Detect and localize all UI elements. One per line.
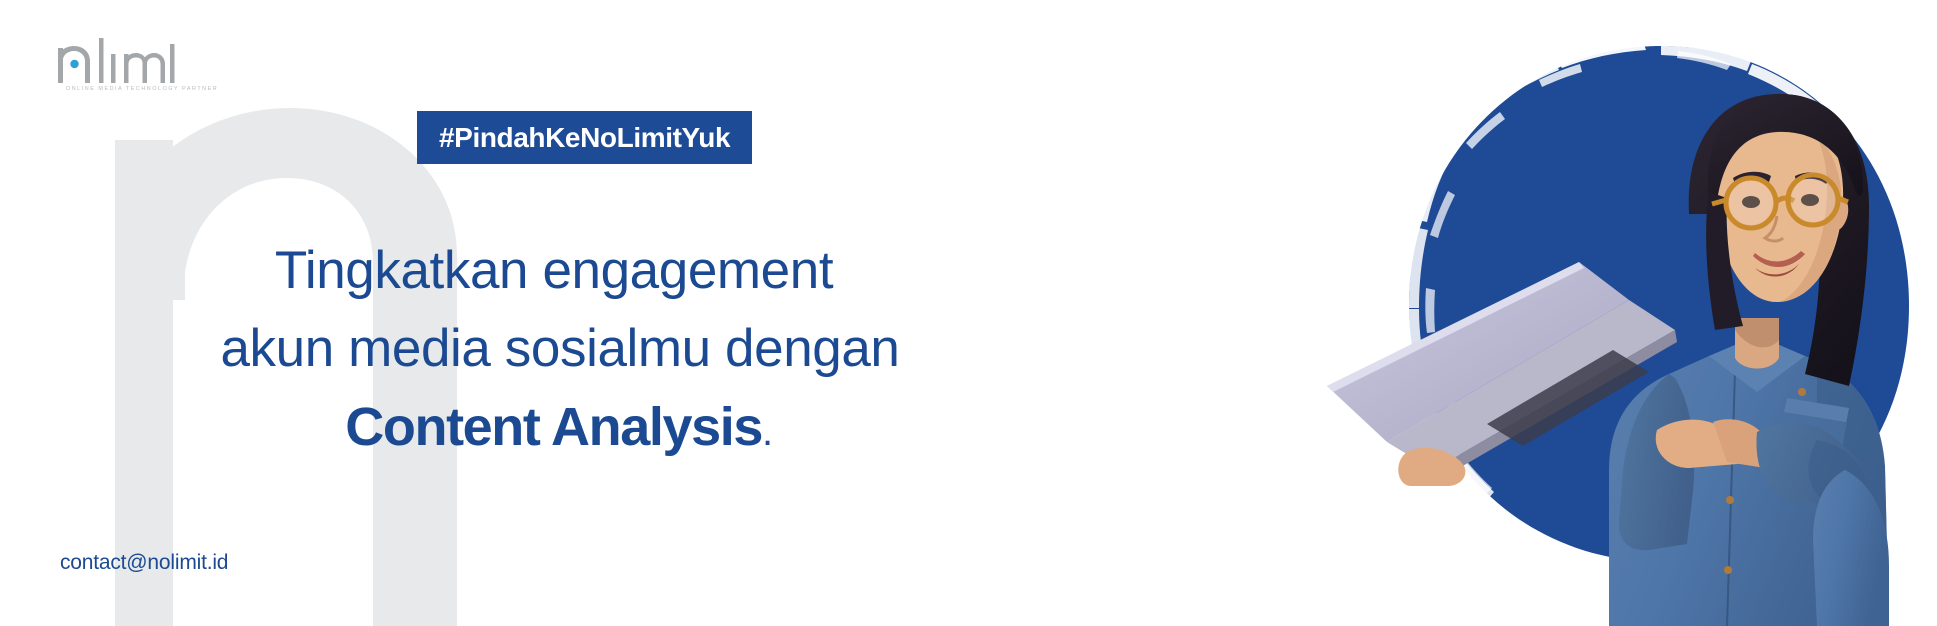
headline-block: Tingkatkan engagement akun media sosialm… [0,232,1130,471]
nolimit-logo[interactable]: ONLINE MEDIA TECHNOLOGY PARTNER [58,38,288,92]
logo-blue-dot-icon [70,60,78,68]
nolimit-wordmark-icon [58,38,176,83]
headline-emphasis: Content Analysis [345,397,762,457]
logo-tagline: ONLINE MEDIA TECHNOLOGY PARTNER [66,86,184,92]
headline-line-3: Content Analysis. [0,388,1130,471]
hashtag-badge-label: #PindahKeNoLimitYuk [439,122,730,154]
headline-period: . [762,410,773,454]
headline-line-2: akun media sosialmu dengan [0,310,1130,388]
nolimit-promo-banner: ONLINE MEDIA TECHNOLOGY PARTNER #PindahK… [0,0,1937,626]
headline-line-1: Tingkatkan engagement [0,232,1130,310]
hashtag-badge[interactable]: #PindahKeNoLimitYuk [417,111,752,164]
contact-email[interactable]: contact@nolimit.id [60,551,228,575]
hero-artwork [1257,0,1937,626]
